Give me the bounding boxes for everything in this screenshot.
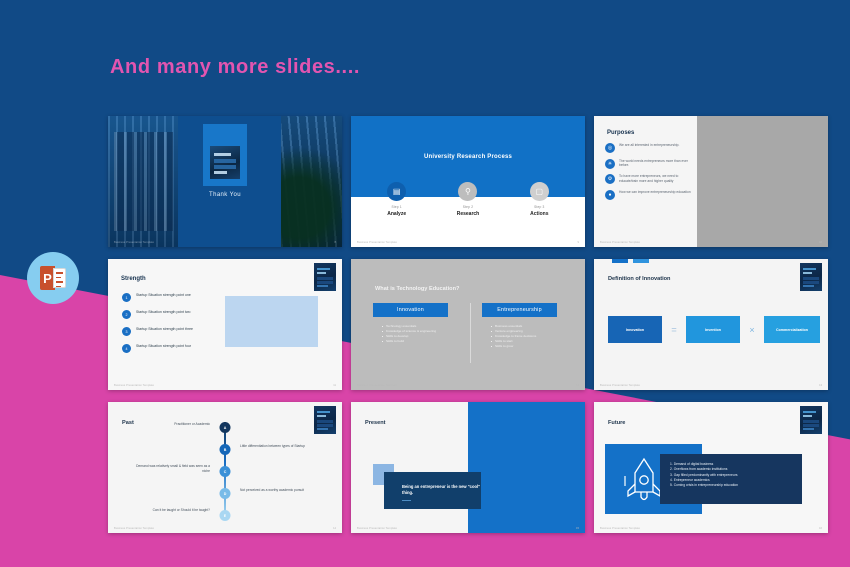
list-item: ⚙ To have more entrepreneurs, we need to… — [605, 174, 691, 184]
list-item: ☀ The world needs entrepreneurs more tha… — [605, 159, 691, 169]
slide-footer: Business Presentation Template — [600, 384, 640, 387]
slide-page-number: 11 — [333, 384, 336, 387]
corner-thumbnail — [314, 263, 336, 291]
ppt-line — [56, 281, 63, 283]
list-item-text: Startup Situation strength point two — [136, 310, 190, 319]
step-label: Analyze — [370, 211, 424, 217]
slide-footer: Business Presentation Template — [114, 384, 154, 387]
target-icon: ◎ — [605, 143, 615, 153]
list-number: 1 — [122, 293, 131, 302]
slide-title: Past — [122, 420, 134, 426]
column-entrepreneurship: Entrepreneurship Business essentials Ven… — [482, 303, 557, 349]
list-item: Skills to grow — [491, 344, 557, 349]
slide-footer: Business Presentation Template — [357, 527, 397, 530]
process-step: ▢ Step 3 Actions — [512, 182, 566, 217]
slide-purposes[interactable]: Purposes ◎ We are all interested in entr… — [594, 116, 828, 247]
timeline-node: D — [220, 488, 231, 499]
list-item-text: To have more entrepreneurs, we need to e… — [619, 174, 691, 184]
slide-title: Purposes — [607, 130, 634, 136]
document-icon: ▤ — [387, 182, 406, 201]
slide-footer: Business Presentation Template — [114, 527, 154, 530]
quote-box: Being an entrepreneur is the new "cool" … — [384, 472, 481, 509]
step-number: Step 3 — [512, 205, 566, 209]
column-divider — [470, 303, 471, 363]
slide-page-number: 15 — [576, 527, 579, 530]
timeline-label: Practitioner or Academic — [136, 422, 210, 427]
image-placeholder — [225, 296, 318, 347]
architecture-photo-left — [108, 116, 178, 247]
slide-title: Future — [608, 420, 625, 426]
checklist-icon: ▢ — [530, 182, 549, 201]
timeline-label: Not perceived as a worthy academic pursu… — [240, 488, 314, 493]
slide-footer: Business Presentation Template — [600, 241, 640, 244]
equals-icon: = — [668, 325, 680, 335]
powerpoint-icon: P — [27, 252, 79, 304]
list-item-text: Startup Situation strength point three — [136, 327, 193, 336]
equation-term-commercialization: Commercialization — [764, 316, 820, 343]
slide-footer: Business Presentation Template — [357, 384, 397, 387]
powerpoint-glyph: P — [40, 266, 66, 290]
step-label: Actions — [512, 211, 566, 217]
timeline-node: E — [220, 510, 231, 521]
future-points-box: Demand of digital business Overflows fro… — [660, 454, 802, 504]
slide-present[interactable]: Present Being an entrepreneur is the new… — [351, 402, 585, 533]
ppt-line — [56, 277, 61, 279]
list-item: ◎ We are all interested in entrepreneurs… — [605, 143, 691, 153]
slide-footer: Business Presentation Template — [600, 527, 640, 530]
slide-definition-of-innovation[interactable]: Definition of Innovation Innovation = In… — [594, 259, 828, 390]
multiply-icon: × — [746, 325, 758, 335]
list-item-text: The world needs entrepreneurs more than … — [619, 159, 691, 169]
list-item-text: How we can improve entrepreneurship educ… — [619, 190, 691, 200]
equation-term-innovation: Innovation — [608, 316, 662, 343]
slide-page-number: 16 — [819, 527, 822, 530]
list-item-text: Startup Situation strength point one — [136, 293, 191, 302]
gray-image-placeholder — [697, 116, 828, 247]
gear-icon: ⚙ — [605, 174, 615, 184]
slide-title: Definition of Innovation — [608, 276, 670, 282]
list-item: Coming crisis in entrepreneurship educat… — [670, 483, 802, 488]
ppt-line — [56, 286, 61, 288]
process-step: ⚲ Step 2 Research — [441, 182, 495, 217]
quote-text: Being an entrepreneur is the new "cool" … — [402, 484, 480, 495]
slide-footer: Business Presentation Template — [114, 241, 154, 244]
top-accent-bars — [594, 259, 828, 263]
slide-footer: Business Presentation Template — [357, 241, 397, 244]
slide-page-number: 8 — [335, 241, 336, 244]
globe-icon: ☀ — [605, 159, 615, 169]
column-innovation: Innovation Technology essentials Knowled… — [373, 303, 448, 344]
list-item: 2 Startup Situation strength point two — [122, 310, 206, 319]
quote-underline — [402, 500, 411, 501]
timeline-label: Demand was relatively small & field was … — [136, 464, 210, 474]
corner-thumbnail — [314, 406, 336, 434]
slide-title: Strength — [121, 276, 146, 282]
timeline-label: Can it be taught or Should it be taught? — [136, 508, 210, 513]
cover-thumbnail-image — [210, 146, 240, 179]
slide-page-number: 9 — [578, 241, 579, 244]
slide-thumbnail-grid: Thank You Business Presentation Template… — [108, 116, 836, 533]
slide-page-number: 13 — [819, 384, 822, 387]
innovation-equation: Innovation = Invention × Commercializati… — [608, 316, 820, 343]
column-heading: Entrepreneurship — [482, 303, 557, 317]
corner-thumbnail — [800, 263, 822, 291]
strength-list: 1 Startup Situation strength point one 2… — [122, 293, 206, 361]
future-list: Demand of digital business Overflows fro… — [670, 462, 802, 489]
corner-thumbnail — [800, 406, 822, 434]
timeline-node: A — [220, 422, 231, 433]
page-title: And many more slides.... — [110, 56, 360, 79]
list-number: 4 — [122, 344, 131, 353]
slide-page-number: 14 — [333, 527, 336, 530]
list-item: Skills to build — [382, 339, 448, 344]
slide-past[interactable]: Past A B C D E Practitioner or Academic … — [108, 402, 342, 533]
step-number: Step 2 — [441, 205, 495, 209]
magnifier-icon: ⚲ — [458, 182, 477, 201]
slide-title: Present — [365, 420, 386, 426]
list-item: 3 Startup Situation strength point three — [122, 327, 206, 336]
slide-university-research-process[interactable]: University Research Process ▤ Step 1 Ana… — [351, 116, 585, 247]
list-number: 3 — [122, 327, 131, 336]
step-number: Step 1 — [370, 205, 424, 209]
slide-title: University Research Process — [351, 154, 585, 160]
list-item: 4 Startup Situation strength point four — [122, 344, 206, 353]
slide-thank-you[interactable]: Thank You Business Presentation Template… — [108, 116, 342, 247]
powerpoint-page — [53, 268, 66, 288]
slide-page-number: 12 — [576, 384, 579, 387]
blue-panel — [468, 402, 585, 533]
list-item: 1 Startup Situation strength point one — [122, 293, 206, 302]
thank-you-text: Thank You — [108, 192, 342, 198]
process-step: ▤ Step 1 Analyze — [370, 182, 424, 217]
step-label: Research — [441, 211, 495, 217]
timeline-node: B — [220, 444, 231, 455]
timeline-node: C — [220, 466, 231, 477]
list-item-text: Startup Situation strength point four — [136, 344, 191, 353]
slide-strength[interactable]: Strength 1 Startup Situation strength po… — [108, 259, 342, 390]
ppt-line — [56, 272, 63, 274]
process-steps: ▤ Step 1 Analyze ⚲ Step 2 Research ▢ Ste… — [361, 182, 575, 217]
architecture-photo-right — [281, 116, 342, 247]
entrepreneurship-bullets: Business essentials Venture engineering … — [491, 324, 557, 349]
lightbulb-icon: ● — [605, 190, 615, 200]
slide-future[interactable]: Future Demand of digital business Overfl… — [594, 402, 828, 533]
innovation-bullets: Technology essentials Knowledge of scien… — [382, 324, 448, 344]
slide-technology-education[interactable]: What is Technology Education? Innovation… — [351, 259, 585, 390]
timeline-label: Little differentiation between types of … — [240, 444, 314, 449]
list-item: ● How we can improve entrepreneurship ed… — [605, 190, 691, 200]
purposes-list: ◎ We are all interested in entrepreneurs… — [605, 143, 691, 205]
list-item-text: We are all interested in entrepreneurshi… — [619, 143, 679, 153]
list-number: 2 — [122, 310, 131, 319]
equation-term-invention: Invention — [686, 316, 740, 343]
column-heading: Innovation — [373, 303, 448, 317]
slide-title: What is Technology Education? — [375, 286, 459, 292]
slide-page-number: 10 — [819, 241, 822, 244]
